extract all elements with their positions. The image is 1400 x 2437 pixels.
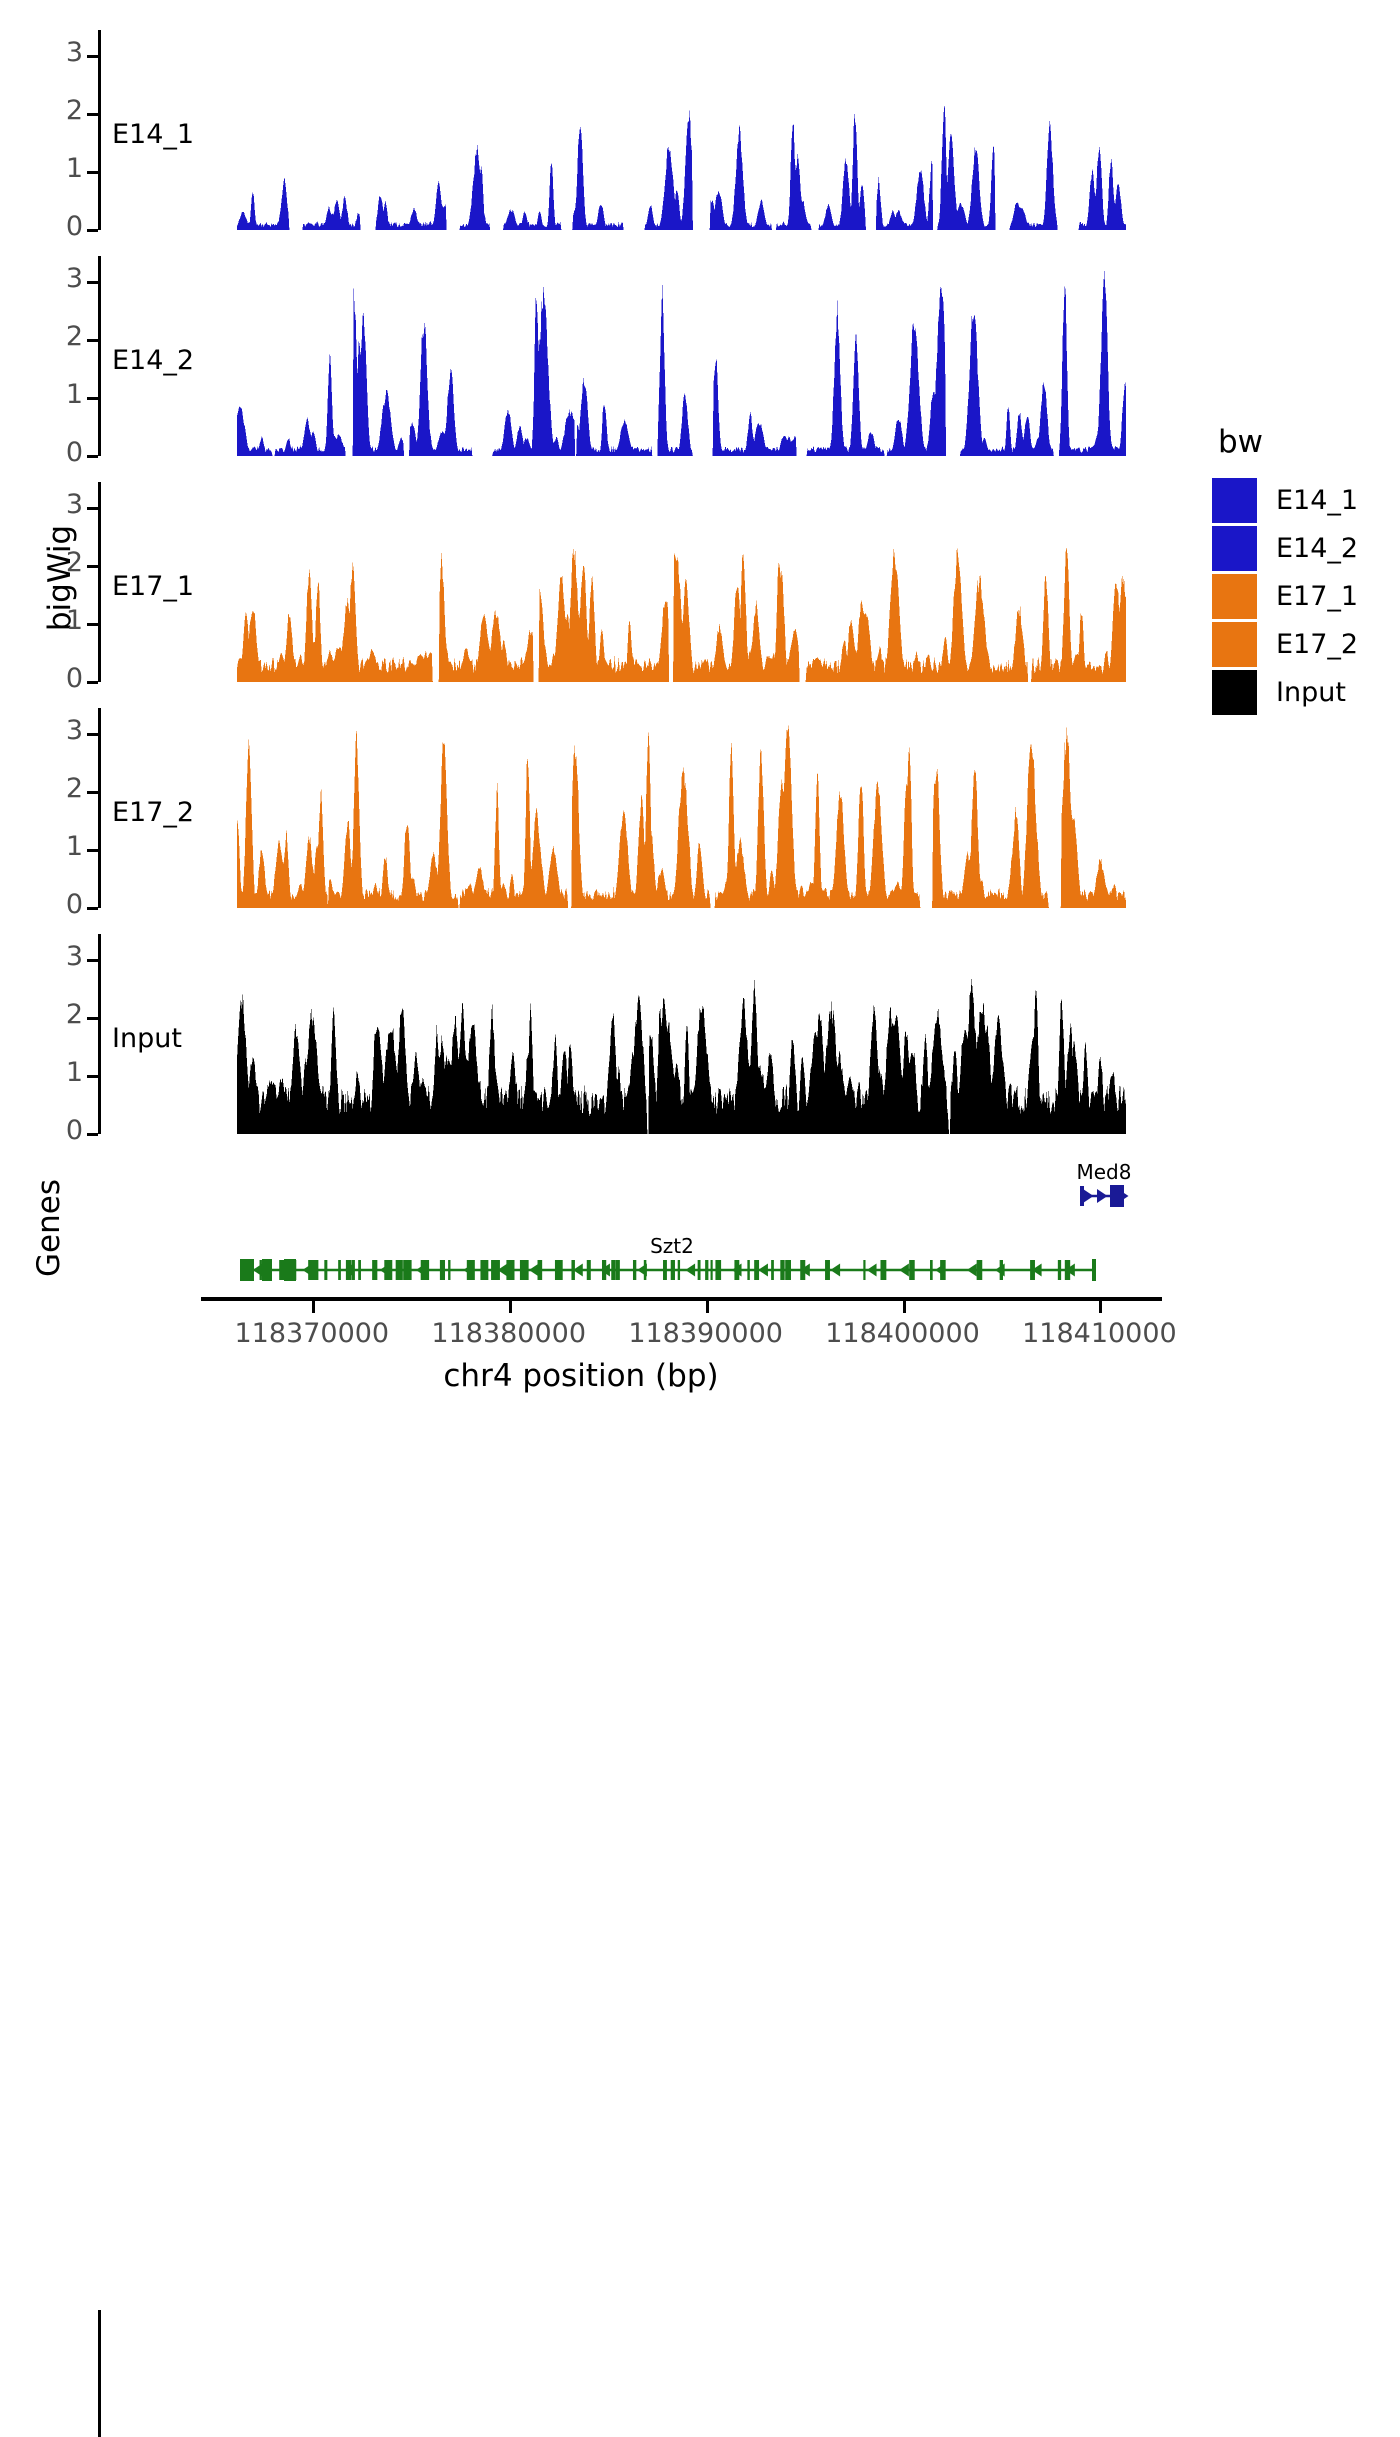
gene-label: Med8 [1077, 1160, 1132, 1184]
gene-label: Szt2 [650, 1234, 694, 1258]
gene-exon [1092, 1259, 1096, 1281]
gene-exon [771, 1260, 774, 1280]
legend-color-swatch [1212, 526, 1257, 571]
track-panel-e17_1[interactable]: E17_1 [0, 482, 1160, 682]
legend-item-e14_1[interactable]: E14_1 [1212, 478, 1400, 523]
gene-exon [611, 1260, 615, 1280]
gene-exon [785, 1260, 791, 1280]
gene-strand-arrow [967, 1264, 977, 1277]
y-axis-tick [87, 791, 98, 794]
gene-exon [560, 1260, 562, 1280]
legend-item-label: E14_1 [1276, 485, 1358, 516]
track-plot-e17_1[interactable] [237, 482, 1127, 682]
gene-exon [240, 1259, 254, 1281]
legend-item-label: E17_2 [1276, 629, 1358, 660]
y-axis-line [98, 482, 101, 682]
track-label-e17_1: E17_1 [112, 571, 194, 602]
gene-exon [705, 1260, 708, 1280]
y-axis-tick [87, 113, 98, 116]
track-panel-e17_2[interactable]: E17_2 [0, 708, 1160, 908]
gene-exon [671, 1260, 675, 1280]
gene-exon [520, 1260, 529, 1280]
gene-exon [616, 1260, 620, 1280]
gene-exon [262, 1259, 272, 1281]
gene-exon [324, 1260, 327, 1280]
gene-exon [633, 1260, 636, 1280]
gene-exon [372, 1260, 377, 1280]
x-axis-tick-label: 118380000 [431, 1318, 586, 1349]
y-axis-tick [87, 681, 98, 684]
y-axis-line [98, 708, 101, 908]
track-plot-e14_1[interactable] [237, 30, 1127, 230]
gene-exon [396, 1260, 403, 1280]
track-panel-e14_2[interactable]: E14_2 [0, 256, 1160, 456]
x-axis-tick [312, 1301, 315, 1313]
gene-exon [403, 1260, 411, 1280]
genes-svg: Szt2Med8 [0, 1150, 1160, 1297]
gene-exon [863, 1260, 865, 1280]
gene-exon [780, 1260, 784, 1280]
legend-item-e17_2[interactable]: E17_2 [1212, 622, 1400, 667]
x-axis-tick [903, 1301, 906, 1313]
gene-strand-arrow [253, 1264, 263, 1277]
gene-strand-arrow [1097, 1189, 1108, 1203]
track-plot-input[interactable] [237, 934, 1127, 1134]
gene-exon [338, 1260, 341, 1280]
track-plot-e14_2[interactable] [237, 256, 1127, 456]
x-axis-tick [1099, 1301, 1102, 1313]
y-axis-tick [87, 1075, 98, 1078]
track-label-input: Input [112, 1023, 182, 1054]
gene-exon [448, 1260, 450, 1280]
gene-strand-arrow [637, 1264, 647, 1277]
gene-exon [747, 1260, 749, 1280]
track-label-e14_1: E14_1 [112, 119, 194, 150]
gene-exon [825, 1260, 830, 1280]
legend-color-swatch [1212, 478, 1257, 523]
x-axis-tick-label: 118410000 [1022, 1318, 1177, 1349]
gene-exon [314, 1260, 318, 1280]
y-axis-line [98, 256, 101, 456]
track-label-e17_2: E17_2 [112, 797, 194, 828]
x-axis-tick-label: 118370000 [235, 1318, 390, 1349]
y-axis-tick [87, 849, 98, 852]
y-axis-tick [87, 507, 98, 510]
gene-exon [977, 1260, 983, 1280]
gene-exon [587, 1260, 591, 1280]
gene-exon [506, 1260, 514, 1280]
gene-strand-arrow [758, 1264, 768, 1277]
track-panel-input[interactable]: Input [0, 934, 1160, 1134]
gene-exon [440, 1260, 445, 1280]
gene-strand-arrow [302, 1264, 312, 1277]
x-axis-line [201, 1297, 1162, 1301]
gene-exon [358, 1260, 361, 1280]
gene-strand-arrow [685, 1264, 695, 1277]
y-axis-tick [87, 397, 98, 400]
gene-exon [880, 1260, 886, 1280]
legend-items: E14_1E14_2E17_1E17_2Input [1212, 478, 1400, 715]
gene-exon [284, 1259, 296, 1281]
x-axis-tick-label: 118390000 [628, 1318, 783, 1349]
y-axis-tick [87, 229, 98, 232]
legend-item-e17_1[interactable]: E17_1 [1212, 574, 1400, 619]
gene-strand-arrow [830, 1264, 840, 1277]
gene-exon [909, 1260, 915, 1280]
legend-item-label: E17_1 [1276, 581, 1358, 612]
gene-strand-arrow [529, 1264, 539, 1277]
track-panel-e14_1[interactable]: E14_1 [0, 30, 1160, 230]
x-axis-tick [706, 1301, 709, 1313]
gene-strand-arrow [899, 1264, 909, 1277]
gene-strand-arrow [867, 1264, 877, 1277]
gene-exon [698, 1260, 701, 1280]
legend-color-swatch [1212, 670, 1257, 715]
gene-exon [930, 1260, 933, 1280]
legend-item-input[interactable]: Input [1212, 670, 1400, 715]
y-axis-tick [87, 733, 98, 736]
x-axis-tick [509, 1301, 512, 1313]
gene-strand-arrow [935, 1264, 945, 1277]
legend-item-e14_2[interactable]: E14_2 [1212, 526, 1400, 571]
gene-exon [663, 1260, 667, 1280]
y-axis-tick [87, 55, 98, 58]
legend: bw E14_1E14_2E17_1E17_2Input [1212, 424, 1400, 718]
legend-item-label: E14_2 [1276, 533, 1358, 564]
gene-exon [711, 1260, 713, 1280]
y-axis-tick [87, 171, 98, 174]
y-axis-tick [87, 281, 98, 284]
y-axis-line [98, 934, 101, 1134]
legend-color-swatch [1212, 622, 1257, 667]
y-axis-tick [87, 907, 98, 910]
x-axis-title: chr4 position (bp) [0, 1358, 1162, 1394]
gene-exon [1058, 1260, 1061, 1280]
gene-exon [715, 1260, 721, 1280]
legend-item-label: Input [1276, 677, 1346, 708]
track-plot-e17_2[interactable] [237, 708, 1127, 908]
track-label-e14_2: E14_2 [112, 345, 194, 376]
legend-title: bw [1218, 424, 1400, 460]
gene-exon [678, 1260, 680, 1280]
y-axis-tick [87, 339, 98, 342]
y-axis-tick [87, 565, 98, 568]
y-axis-tick [87, 1133, 98, 1136]
genes-axis-line [98, 2310, 101, 2437]
y-axis-tick [87, 959, 98, 962]
y-axis-tick [87, 455, 98, 458]
y-axis-line [98, 30, 101, 230]
gene-exon [480, 1260, 488, 1280]
y-axis-tick [87, 623, 98, 626]
y-axis-tick [87, 1017, 98, 1020]
x-axis-tick-label: 118400000 [825, 1318, 980, 1349]
genes-track-panel[interactable]: Szt2Med8 [0, 1150, 1160, 1297]
gene-strand-arrow [1083, 1189, 1094, 1203]
legend-color-swatch [1212, 574, 1257, 619]
